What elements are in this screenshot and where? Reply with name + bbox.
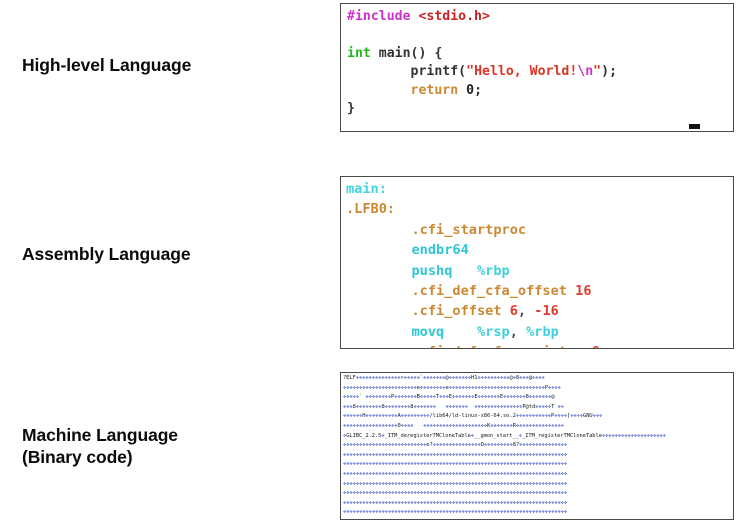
asm-token-directive-def-cfa-register: .cfi_def_cfa_register <box>411 344 583 349</box>
asm-token-mnemonic-movq: movq <box>411 324 444 340</box>
asm-token-register-rbp-2: %rbp <box>526 324 559 340</box>
asm-token-comma: , <box>518 303 526 319</box>
asm-token-register-rsp: %rsp <box>477 324 510 340</box>
binary-dump-row: ❖❖❖8❖❖❖❖❖❖❖❖8❖❖❖❖❖❖❖❖8❖❖❖❖❖❖❖ ❖❖❖❖❖❖❖ ❖❖… <box>343 403 732 413</box>
c-token-paren-open: ( <box>458 64 466 79</box>
c-token-semicolon-1: ; <box>609 64 617 79</box>
asm-token-number-16: 16 <box>575 283 591 299</box>
binary-dump-row: ❖❖❖❖❖❖❖❖❖❖❖❖❖❖❖❖❖❖❖❖❖❖❖❖❖❖e?❖❖❖❖❖❖❖❖❖❖❖❖… <box>343 441 732 451</box>
asm-token-mnemonic-endbr64: endbr64 <box>411 242 468 258</box>
label-machine-language: Machine Language (Binary code) <box>22 424 178 468</box>
asm-token-number-6b: 6 <box>592 344 600 349</box>
asm-token-mnemonic-pushq: pushq <box>411 263 452 279</box>
asm-token-directive-startproc: .cfi_startproc <box>411 222 526 238</box>
binary-dump-row: ❖❖❖❖❖❖❖❖❖❖❖❖❖❖❖❖❖❖❖❖❖❖❖❖❖❖❖❖❖❖❖❖❖❖❖❖❖❖❖❖… <box>343 451 732 461</box>
c-token-paren-close: ) <box>601 64 609 79</box>
binary-dump-row: ❖❖❖❖❖❖❖❖❖❖❖❖❖❖❖❖❖❖❖❖❖❖❖❖❖❖❖❖❖❖❖❖❖❖❖❖❖❖❖❖… <box>343 508 732 518</box>
binary-dump-row: ❖❖❖❖❖❖❖❖❖❖❖❖❖❖❖❖❖❖❖❖❖❖❖❖❖❖❖❖❖❖❖❖❖❖❖❖❖❖❖❖… <box>343 499 732 509</box>
binary-dump-row: ❖GLIBC_2.2.5❖_ITM_deregisterTMCloneTable… <box>343 432 732 442</box>
c-token-keyword-int: int <box>347 46 371 61</box>
assembly-source-code: main: .LFB0: .cfi_startproc endbr64 push… <box>346 179 727 349</box>
binary-dump-row: ❖❖❖❖❖❖❖❖❖❖❖❖❖❖❖❖❖❖❖❖❖❖❖❖❖❖❖❖❖❖❖❖❖❖❖❖❖❖❖❖… <box>343 470 732 480</box>
c-token-literal-zero: 0 <box>466 83 474 98</box>
c-token-brace-open: { <box>434 46 442 61</box>
asm-token-register-rbp-1: %rbp <box>477 263 510 279</box>
c-token-string-body: "Hello, World! <box>466 64 577 79</box>
binary-dump-row: ❖❖❖❖❖❖❖❖❖❖❖❖❖❖❖❖❖❖❖❖❖❖❖e❖❖❖❖❖❖❖❖e❖❖❖❖❖❖❖… <box>343 384 732 394</box>
binary-dump-row: ❖❖❖❖❖❖❖❖❖❖❖❖❖❖❖❖❖❖❖❖❖❖❖❖❖❖❖❖❖❖❖❖❖❖❖❖❖❖❖❖… <box>343 480 732 490</box>
asm-token-label-main: main: <box>346 181 387 197</box>
c-source-code: #include <stdio.h> int main() { printf("… <box>347 8 727 118</box>
code-panel-high-level: #include <stdio.h> int main() { printf("… <box>340 3 734 132</box>
c-token-escape-newline: \n <box>577 64 593 79</box>
asm-token-directive-offset: .cfi_offset <box>411 303 501 319</box>
c-token-function-main: main() <box>379 46 427 61</box>
asm-token-number-neg16: -16 <box>534 303 559 319</box>
asm-token-directive-def-cfa-offset: .cfi_def_cfa_offset <box>411 283 567 299</box>
c-token-semicolon-2: ; <box>474 83 482 98</box>
binary-dump-row: ❖❖❖❖❖` ❖❖❖❖❖❖❖❖P❖❖❖❖❖❖❖B❖❖❖❖❖T❖❖❖E❖❖❖❖❖❖… <box>343 393 732 403</box>
binary-dump-row: ❖❖❖❖❖❖❖❖❖❖❖❖❖❖❖❖❖❖❖❖❖❖❖❖❖❖❖❖❖❖❖❖❖❖❖❖❖❖❖❖… <box>343 460 732 470</box>
binary-dump-row: ❖❖❖❖❖❖❖❖❖❖❖❖❖❖❖❖❖❖❖❖❖❖❖❖❖❖❖❖❖❖❖❖❖❖❖❖❖❖❖❖… <box>343 489 732 499</box>
slide-canvas: High-level Language Assembly Language Ma… <box>0 0 754 530</box>
text-caret <box>689 124 700 129</box>
binary-dump-row: ?ELF❖❖❖❖❖❖❖❖❖❖❖❖❖❖>❖❖❖❖❖`❖❖❖❖❖❖❖@❖❖❖❖❖❖… <box>343 374 732 384</box>
code-panel-machine-binary: ?ELF❖❖❖❖❖❖❖❖❖❖❖❖❖❖>❖❖❖❖❖`❖❖❖❖❖❖❖@❖❖❖❖❖❖… <box>340 372 734 520</box>
c-token-header: <stdio.h> <box>418 9 489 24</box>
c-token-string-close: " <box>593 64 601 79</box>
asm-token-label-lfb0: .LFB0: <box>346 201 395 217</box>
asm-token-comma-2: , <box>510 324 518 340</box>
code-panel-assembly: main: .LFB0: .cfi_startproc endbr64 push… <box>340 176 734 349</box>
c-token-keyword-return: return <box>411 83 459 98</box>
c-token-brace-close: } <box>347 101 355 116</box>
c-token-call-printf: printf <box>411 64 459 79</box>
label-assembly-language: Assembly Language <box>22 243 191 265</box>
label-high-level-language: High-level Language <box>22 54 191 76</box>
binary-dump: ?ELF❖❖❖❖❖❖❖❖❖❖❖❖❖❖>❖❖❖❖❖`❖❖❖❖❖❖❖@❖❖❖❖❖❖… <box>343 374 732 518</box>
asm-token-number-6: 6 <box>510 303 518 319</box>
c-token-include: #include <box>347 9 411 24</box>
binary-dump-row: ❖❖❖❖❖❖❖❖❖❖❖❖❖❖❖❖❖0❖❖❖❖ ❖❖❖❖❖❖❖❖❖❖❖❖❖❖❖❖❖… <box>343 422 732 432</box>
binary-dump-row: ❖❖❖❖❖❖H❖❖❖❖❖❖❖❖❖❖A❖❖❖❖❖❖❖❖❖/lib64/ld-lin… <box>343 412 732 422</box>
